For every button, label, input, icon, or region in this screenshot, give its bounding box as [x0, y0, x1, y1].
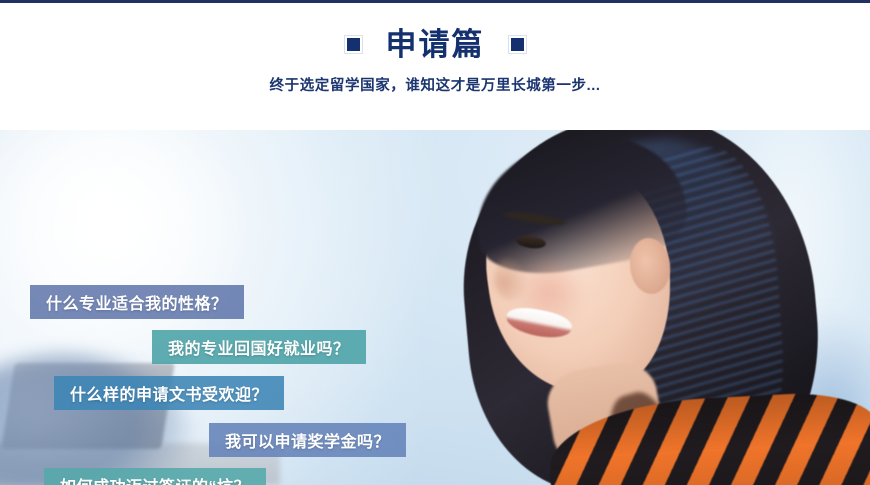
student-portrait: [430, 130, 870, 485]
page-title: 申请篇: [386, 29, 485, 60]
striped-shirt: [547, 389, 870, 485]
hero-photo: 什么专业适合我的性格？ 我的专业回国好就业吗？ 什么样的申请文书受欢迎？ 我可以…: [0, 130, 870, 485]
shirt-shading: [547, 389, 870, 485]
question-bubble-4[interactable]: 我可以申请奖学金吗？: [209, 423, 406, 457]
question-bubble-3[interactable]: 什么样的申请文书受欢迎？: [54, 376, 284, 410]
question-bubble-2[interactable]: 我的专业回国好就业吗？: [152, 330, 366, 364]
title-row: 申请篇: [347, 29, 524, 60]
page-subtitle: 终于选定留学国家，谁知这才是万里长城第一步...: [270, 74, 601, 95]
square-marker-left-icon: [347, 38, 360, 51]
square-marker-right-icon: [511, 38, 524, 51]
question-bubble-1[interactable]: 什么专业适合我的性格？: [30, 285, 244, 319]
question-bubble-5[interactable]: 如何成功迈过签证的“坑？: [44, 468, 266, 485]
page-root: 申请篇 终于选定留学国家，谁知这才是万里长城第一步...: [0, 0, 870, 485]
page-header: 申请篇 终于选定留学国家，谁知这才是万里长城第一步...: [0, 3, 870, 130]
